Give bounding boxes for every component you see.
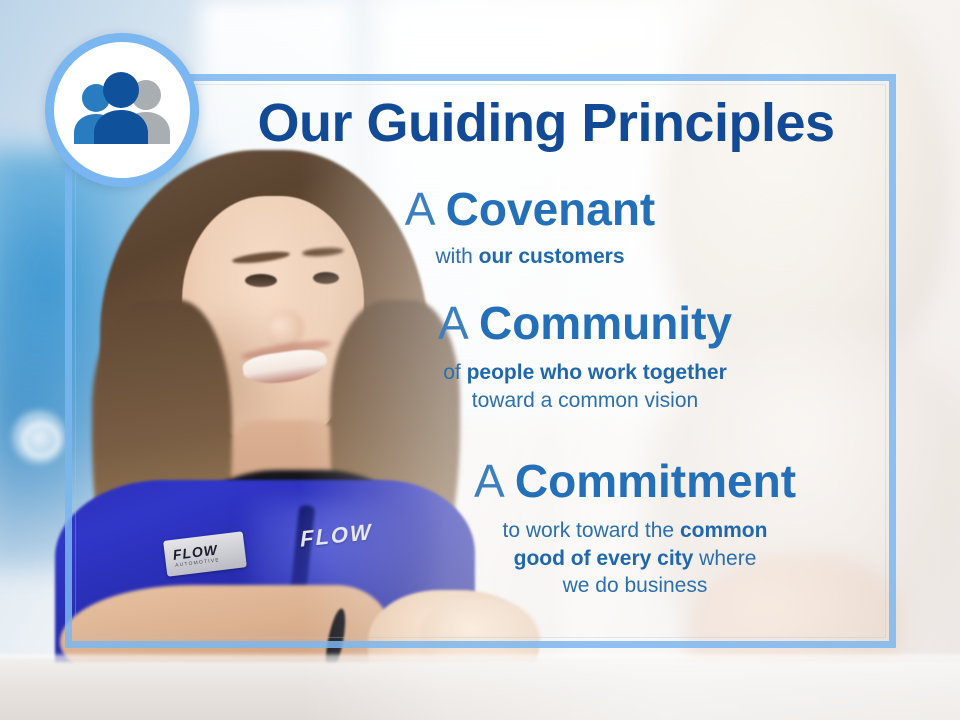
covenant-sub-bold: our customers	[479, 245, 625, 268]
principle-commitment-lead: A	[474, 455, 502, 507]
covenant-sub-plain: with	[435, 245, 478, 268]
principle-community-subtext: of people who work together toward a com…	[350, 359, 820, 414]
commitment-sub-bold-2: good of every city	[514, 547, 694, 570]
guiding-principles-banner: FLOW AUTOMOTIVE FLOW	[0, 0, 960, 720]
commitment-sub-plain-1: to work toward the	[503, 519, 680, 542]
community-sub-bold: people who work together	[467, 361, 727, 384]
community-sub-plain-1: of	[443, 361, 466, 384]
commitment-sub-plain-2: where	[693, 547, 756, 570]
principle-covenant: A Covenant with our customers	[300, 186, 760, 271]
page-title: Our Guiding Principles	[212, 95, 880, 152]
employee-eye-left	[245, 274, 277, 287]
group-people-icon-badge	[45, 33, 199, 187]
principle-commitment: A Commitment to work toward the common g…	[400, 458, 870, 600]
employee-eye-right	[313, 272, 339, 284]
principle-covenant-word: Covenant	[446, 183, 656, 235]
commitment-sub-bold-1: common	[680, 519, 768, 542]
principle-community-title: A Community	[350, 300, 820, 348]
group-people-icon	[67, 71, 177, 149]
commitment-sub-plain-3: we do business	[563, 574, 708, 597]
principle-community-word: Community	[479, 297, 732, 349]
vehicle-emblem	[10, 408, 68, 466]
principle-commitment-subtext: to work toward the common good of every …	[400, 517, 870, 600]
principle-covenant-title: A Covenant	[300, 186, 760, 234]
principle-commitment-title: A Commitment	[400, 458, 870, 506]
principle-covenant-lead: A	[405, 183, 433, 235]
community-sub-plain-2: toward a common vision	[472, 389, 698, 412]
principle-covenant-subtext: with our customers	[300, 243, 760, 271]
desk-surface	[0, 660, 960, 720]
principle-commitment-word: Commitment	[515, 455, 796, 507]
principle-community: A Community of people who work together …	[350, 300, 820, 414]
principle-community-lead: A	[438, 297, 466, 349]
